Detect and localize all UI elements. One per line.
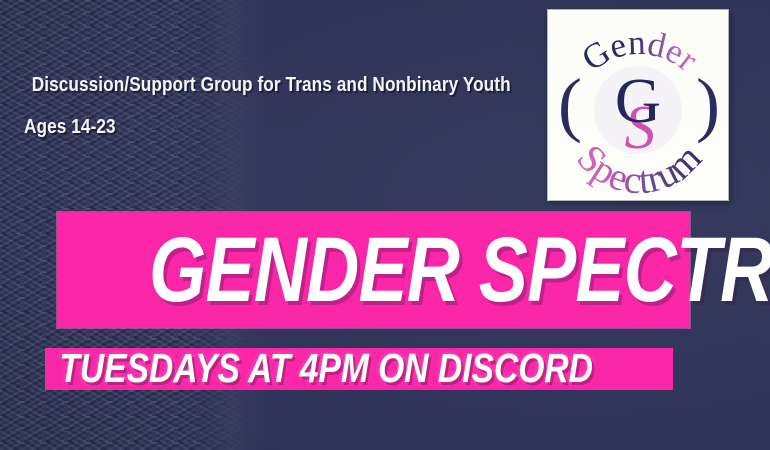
poster-subtitle: TUESDAYS AT 4PM ON DISCORD <box>20 338 593 398</box>
logo-monogram-g: G <box>615 65 661 136</box>
logo-artwork: Gender Spectrum ( ) S G <box>548 10 728 200</box>
title-banner: GENDER SPECTRUM <box>57 212 690 328</box>
poster-title: GENDER SPECTRUM <box>149 224 770 316</box>
header-line-ages: Ages 14-23 <box>24 106 471 148</box>
title-text-wrapper: GENDER SPECTRUM <box>57 224 690 316</box>
header-copy-block: Discussion/Support Group for Trans and N… <box>24 64 544 148</box>
gender-spectrum-logo: Gender Spectrum ( ) S G <box>548 10 728 200</box>
logo-bracket-right: ) <box>696 64 720 144</box>
subtitle-text-wrapper: TUESDAYS AT 4PM ON DISCORD <box>20 338 660 398</box>
header-line-description: Discussion/Support Group for Trans and N… <box>24 64 471 106</box>
logo-bracket-left: ( <box>558 64 582 144</box>
poster-canvas: Discussion/Support Group for Trans and N… <box>0 0 770 450</box>
